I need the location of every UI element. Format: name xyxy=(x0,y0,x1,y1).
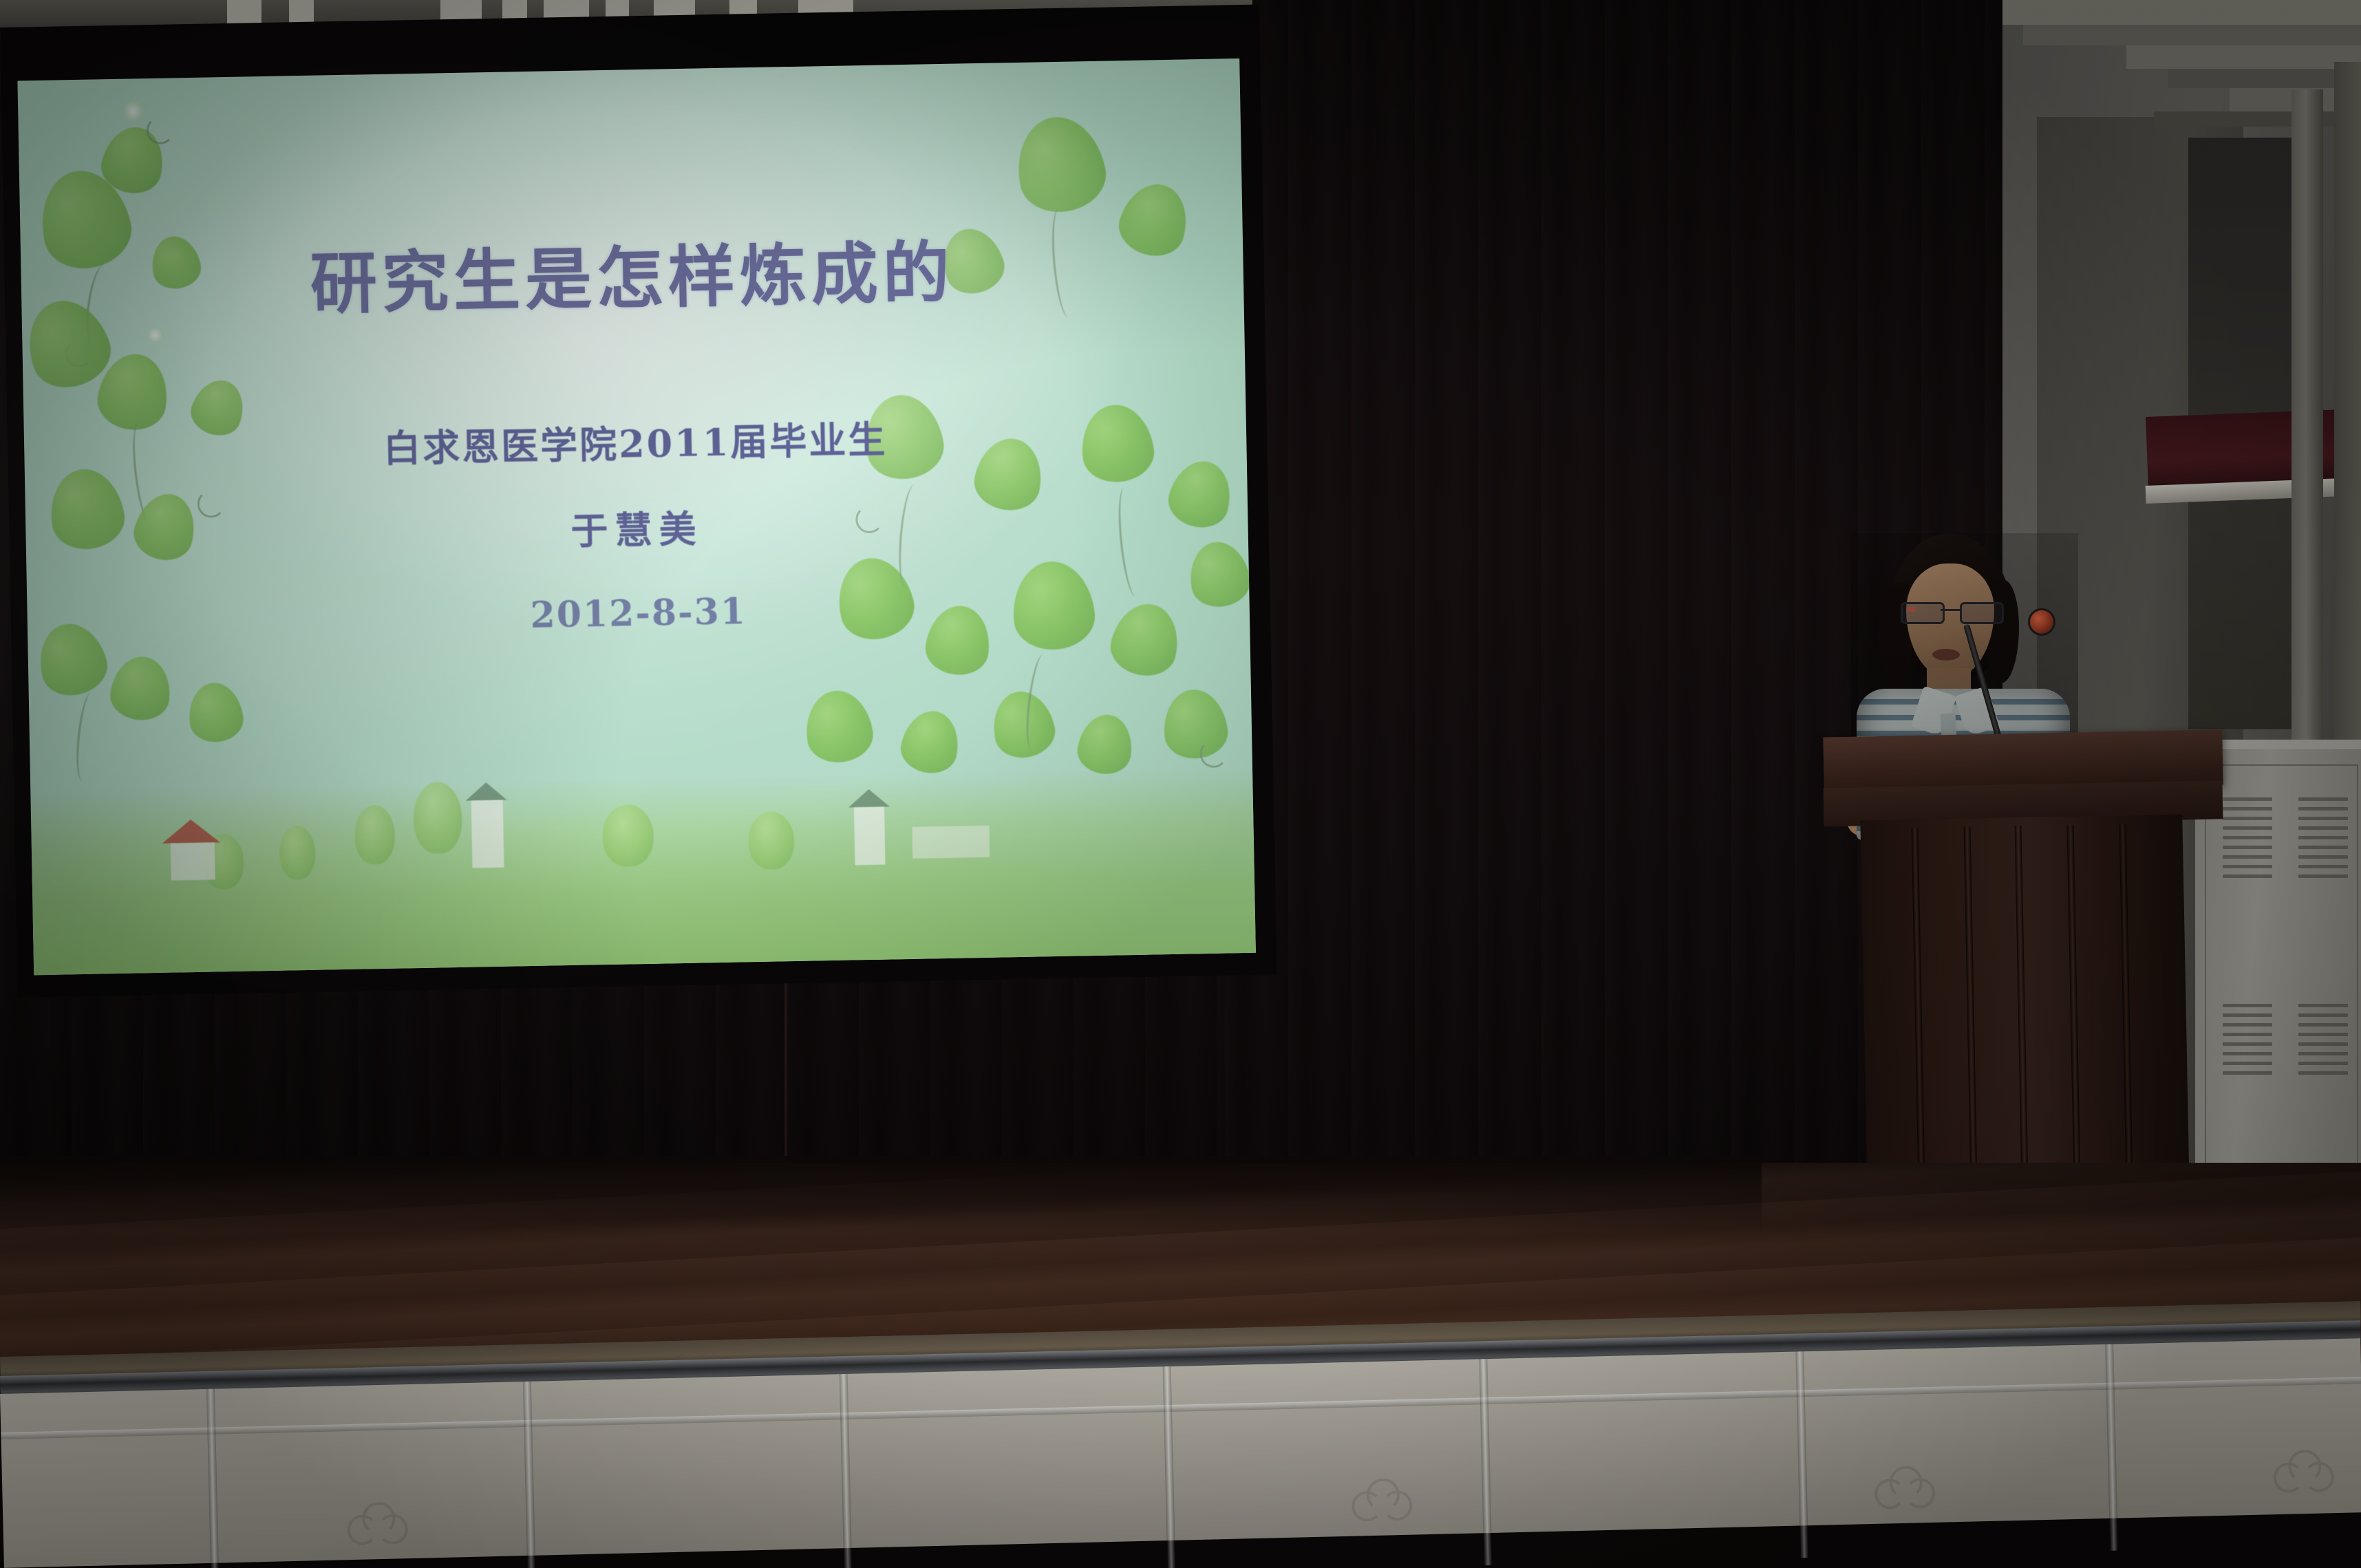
leaf-decoration xyxy=(1074,711,1136,777)
house-roof xyxy=(162,819,220,844)
wall-pillar xyxy=(2291,89,2323,777)
tree-decoration xyxy=(602,804,654,867)
panel-rail xyxy=(1,1377,2361,1439)
panel-divider xyxy=(1795,1351,1808,1558)
glasses-icon xyxy=(1899,602,2001,620)
cornice-molding xyxy=(1996,0,2361,25)
glasses-lens xyxy=(1901,602,1945,624)
cornice-molding xyxy=(2154,111,2361,127)
panel-divider xyxy=(1163,1366,1176,1568)
cabinet-louvers xyxy=(2298,1004,2348,1081)
auditorium-scene: 研究生是怎样炼成的 白求恩医学院2011届毕业生 于慧美 2012-8-31 xyxy=(0,0,2361,1568)
leaf-decoration xyxy=(107,654,174,724)
house-body xyxy=(854,807,886,866)
carved-scroll-motif xyxy=(2273,1449,2333,1496)
leaf-decoration xyxy=(897,706,965,778)
house-body xyxy=(471,800,504,868)
tendril-curl-icon xyxy=(146,116,174,144)
cabinet-louvers xyxy=(2223,1004,2272,1081)
cornice-molding xyxy=(2168,69,2361,88)
glasses-lens xyxy=(1960,602,2004,624)
house-roof xyxy=(848,789,890,808)
tree-decoration xyxy=(279,826,315,880)
carved-scroll-motif xyxy=(1874,1465,1934,1512)
glasses-bridge xyxy=(1941,609,1960,611)
panel-divider xyxy=(840,1374,853,1568)
light-dot xyxy=(121,99,145,123)
wall-pillar xyxy=(2334,62,2361,791)
leaf-stem xyxy=(73,691,100,782)
tree-decoration xyxy=(748,811,795,870)
tendril-curl-icon xyxy=(1199,740,1228,768)
tree-decoration xyxy=(354,805,396,865)
house-roof xyxy=(465,782,506,801)
carved-scroll-motif xyxy=(347,1501,407,1548)
cabinet-louvers xyxy=(2298,797,2348,884)
slide-title: 研究生是怎样炼成的 xyxy=(21,213,1244,332)
house-body xyxy=(912,826,990,859)
projection-screen: 研究生是怎样炼成的 白求恩医学院2011届毕业生 于慧美 2012-8-31 xyxy=(17,58,1256,975)
stage-floor-shadow xyxy=(0,1156,1762,1232)
leaf-decoration xyxy=(987,686,1060,763)
house-body xyxy=(171,842,215,880)
microphone xyxy=(2028,608,2055,636)
leaf-decoration xyxy=(1009,109,1112,219)
leaf-decoration xyxy=(801,687,877,766)
carved-scroll-motif xyxy=(1351,1478,1411,1525)
mouth xyxy=(1932,649,1960,661)
panel-divider xyxy=(206,1389,220,1568)
panel-divider xyxy=(2105,1344,2118,1551)
projection-screen-frame: 研究生是怎样炼成的 白求恩医学院2011届毕业生 于慧美 2012-8-31 xyxy=(0,4,1277,997)
cornice-molding xyxy=(2023,25,2361,45)
cabinet-louvers xyxy=(2223,797,2272,884)
panel-divider xyxy=(523,1382,536,1568)
panel-divider xyxy=(1479,1359,1492,1565)
leaf-decoration xyxy=(185,680,246,745)
lens-glint xyxy=(1908,607,1916,612)
cornice-molding xyxy=(2126,45,2361,69)
